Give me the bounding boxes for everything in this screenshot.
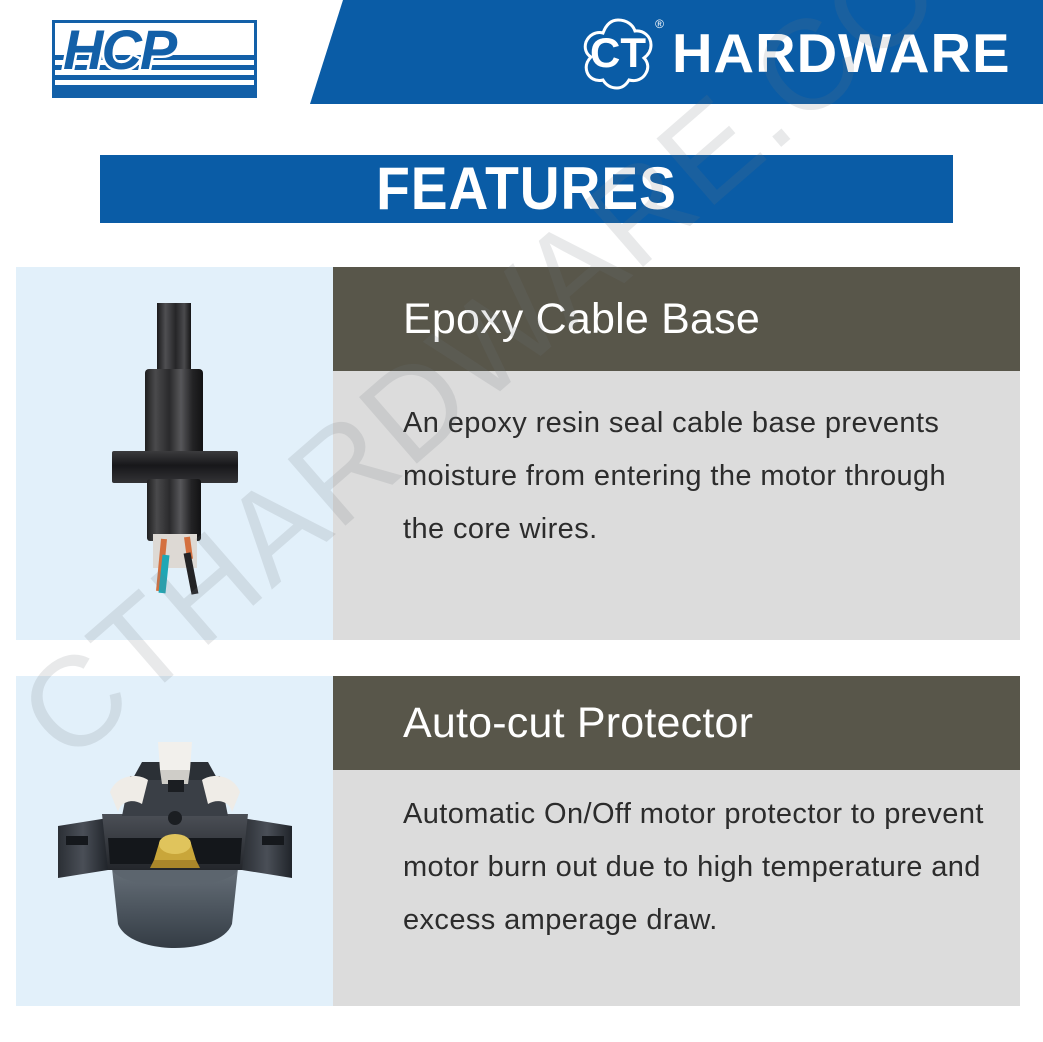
features-banner-title: FEATURES <box>376 159 677 219</box>
epoxy-cable-base-photo <box>95 291 255 601</box>
feature-card-body: Epoxy Cable Base An epoxy resin seal cab… <box>333 267 1020 640</box>
feature-infographic-page: HCP HCP CT ® HARDWARE FEATURES <box>0 0 1043 1042</box>
hcp-logo-text: HCP <box>63 20 175 83</box>
ct-hardware-logo: CT ® HARDWARE <box>578 14 1004 92</box>
brand-header-bar: HCP HCP CT ® HARDWARE <box>0 0 1043 104</box>
feature-card-auto-cut-protector: Auto-cut Protector Automatic On/Off moto… <box>16 676 1020 1006</box>
feature-card-image-panel <box>16 676 333 1006</box>
feature-card-header: Auto-cut Protector <box>333 676 1020 770</box>
feature-card-body: Auto-cut Protector Automatic On/Off moto… <box>333 676 1020 1006</box>
feature-card-image-panel <box>16 267 333 640</box>
hcp-logo: HCP HCP <box>52 20 257 98</box>
feature-card-title: Epoxy Cable Base <box>403 295 760 343</box>
svg-text:CT: CT <box>590 29 646 76</box>
feature-card-header: Epoxy Cable Base <box>333 267 1020 371</box>
auto-cut-protector-photo <box>50 718 300 958</box>
feature-card-title: Auto-cut Protector <box>403 699 753 747</box>
feature-card-epoxy-cable-base: Epoxy Cable Base An epoxy resin seal cab… <box>16 267 1020 640</box>
ct-cloud-badge-icon: CT ® <box>578 15 658 91</box>
hcp-logo-baseline <box>55 88 254 95</box>
feature-card-description: An epoxy resin seal cable base prevents … <box>333 371 1020 640</box>
features-banner: FEATURES <box>100 155 953 223</box>
registered-trademark-icon: ® <box>655 17 664 31</box>
feature-card-description: Automatic On/Off motor protector to prev… <box>333 770 1020 1006</box>
ct-hardware-wordmark: HARDWARE <box>672 25 1011 81</box>
